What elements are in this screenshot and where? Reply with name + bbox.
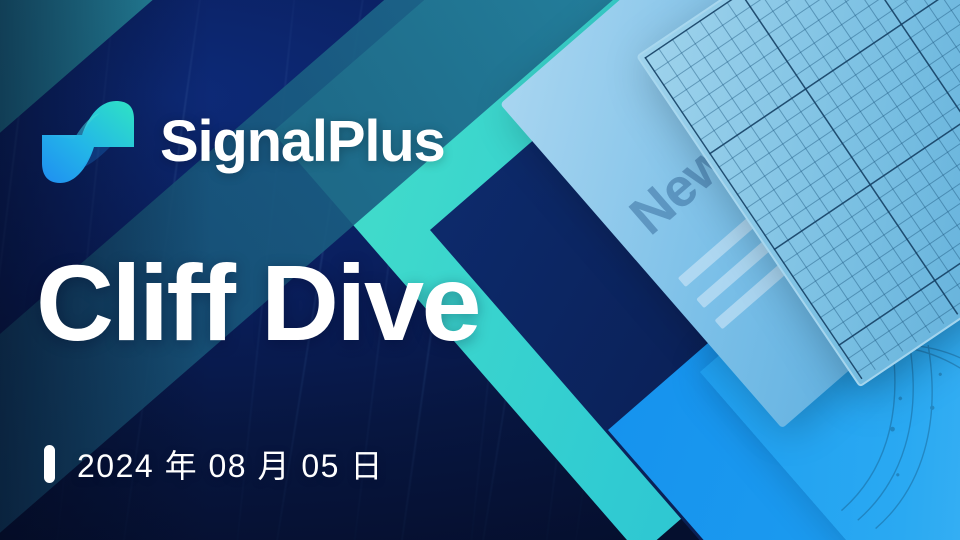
vertical-bar-accent-icon <box>44 445 55 483</box>
brand-name: SignalPlus <box>160 113 445 171</box>
page-title: Cliff Dive <box>36 246 479 359</box>
dateline: 2024 年 08 月 05 日 <box>44 441 384 487</box>
date-text: 2024 年 08 月 05 日 <box>77 441 384 487</box>
banner-canvas: New <box>0 0 960 540</box>
banner-content: SignalPlus Cliff Dive 2024 年 08 月 05 日 <box>0 0 960 540</box>
brand-lockup: SignalPlus <box>36 95 445 189</box>
signalplus-wave-logo-icon <box>36 95 140 189</box>
